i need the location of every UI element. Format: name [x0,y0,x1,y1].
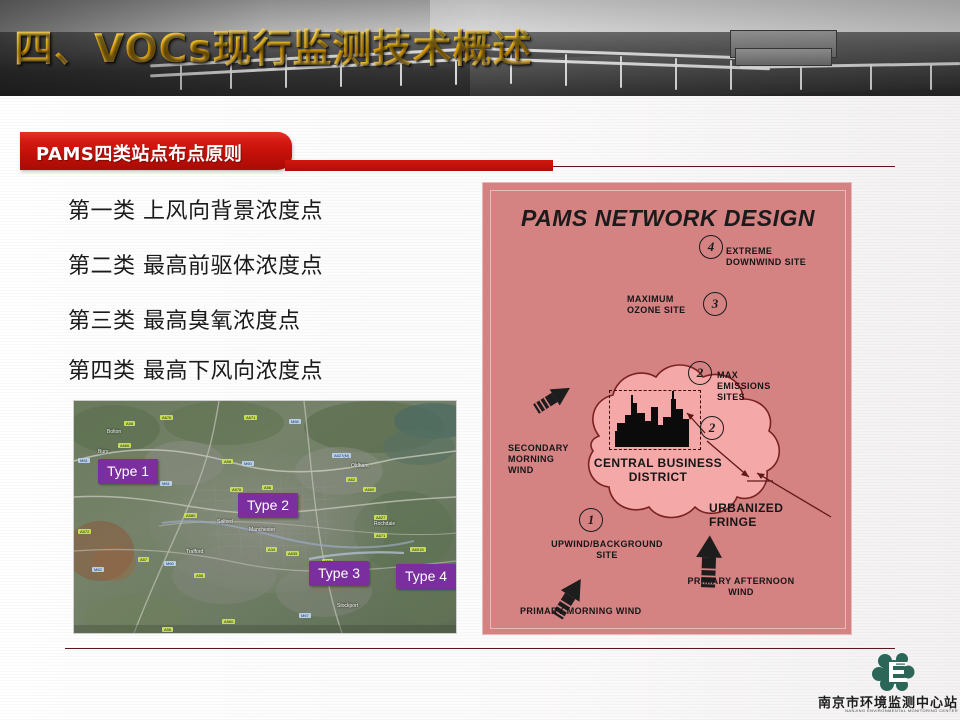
label-upwind-background-site: UPWIND/BACKGROUND SITE [537,539,677,561]
section-banner-rule [553,166,895,167]
map-road-tag: A57 [138,557,149,562]
map-road-tag: M66 [289,419,301,424]
label-primary-morning-wind: PRIMARY MORNING WIND [520,606,642,617]
map-type-label-4[interactable]: Type 4 [396,564,456,589]
site-marker-1[interactable]: 1 [579,508,603,532]
map-road-tag: A56 [262,485,273,490]
map-road-tag: A56 [162,627,173,632]
organization-name-en: NANJING ENVIRONMENTAL MONITORING CENTER [753,708,958,713]
map-road-tag: M61 [160,481,172,486]
map-road-tag: A56 [194,573,205,578]
label-extreme-downwind-site: EXTREME DOWNWIND SITE [726,246,806,268]
label-central-business-district: CENTRAL BUSINESS DISTRICT [593,456,723,484]
site-marker-2-cbd[interactable]: 2 [700,416,724,440]
label-secondary-morning-wind: SECONDARY MORNING WIND [508,443,569,476]
footer-divider [65,648,895,649]
map-place-label: Manchester [249,527,275,533]
map-place-label: Bury [98,449,108,455]
label-max-emissions-sites: MAX EMISSIONS SITES [717,370,771,403]
label-maximum-ozone-site: MAXIMUM OZONE SITE [627,294,686,316]
map-road-tag: A671 [244,415,257,420]
site-marker-2-emissions[interactable]: 2 [688,361,712,385]
diagram-inner-frame: PAMS NETWORK DESIGN [490,190,846,629]
city-skyline-icon [615,391,693,447]
map-road-tag: A627 [374,515,387,520]
map-road-tag: M62 [92,567,104,572]
map-road-tag: A669 [363,487,376,492]
map-place-label: Rochdale [374,521,395,527]
map-road-tag: A671 [374,533,387,538]
map-road-tag: A666 [118,443,131,448]
bullet-item-2: 第二类 最高前驱体浓度点 [68,248,323,280]
map-road-tag: A572 [78,529,91,534]
satellite-map-figure: Bolton Bury Oldham Manchester Salford Tr… [73,400,457,634]
map-road-tag: A58 [124,421,135,426]
label-urbanized-fringe: URBANIZED FRINGE [709,501,783,529]
map-type-label-2[interactable]: Type 2 [238,493,298,518]
map-place-label: Oldham [351,463,369,469]
map-place-label: Stockport [337,603,358,609]
map-road-tag: A560 [222,619,235,624]
organization-logo-icon [872,652,916,692]
map-place-label: Salford [217,519,233,525]
map-road-tag: A576 [230,487,243,492]
map-road-tag: A635 [286,551,299,556]
map-place-label: Bolton [107,429,121,435]
map-type-label-3[interactable]: Type 3 [309,561,369,586]
page-title: 四、VOCs现行监测技术概述 [14,18,533,74]
presentation-slide: 四、VOCs现行监测技术概述 四、VOCs现行监测技术概述 PAMS四类站点布点… [0,0,960,720]
map-road-tag: M67 [299,613,311,618]
label-primary-afternoon-wind: PRIMARY AFTERNOON WIND [675,576,807,598]
map-type-label-1[interactable]: Type 1 [98,459,158,484]
map-road-tag: A580 [184,513,197,518]
bullet-item-3: 第三类 最高臭氧浓度点 [68,303,301,335]
map-road-tag: M61 [78,458,90,463]
map-road-tag: A676 [160,415,173,420]
map-road-tag: A627(M) [332,453,351,458]
map-road-tag: M60 [242,461,254,466]
map-road-tag: A58 [222,459,233,464]
site-marker-3[interactable]: 3 [703,292,727,316]
map-road-tag: A34 [266,547,277,552]
section-banner-label: PAMS四类站点布点原则 [36,140,242,166]
map-road-tag: A6018 [410,547,426,552]
map-place-label: Trafford [186,549,203,555]
map-road-tag: M60 [164,561,176,566]
map-road-tag: A62 [346,477,357,482]
pams-network-design-figure: PAMS NETWORK DESIGN [482,182,852,635]
bullet-item-1: 第一类 上风向背景浓度点 [68,193,323,225]
section-banner-underline [285,160,553,171]
bullet-item-4: 第四类 最高下风向浓度点 [68,353,323,385]
site-marker-4[interactable]: 4 [699,235,723,259]
